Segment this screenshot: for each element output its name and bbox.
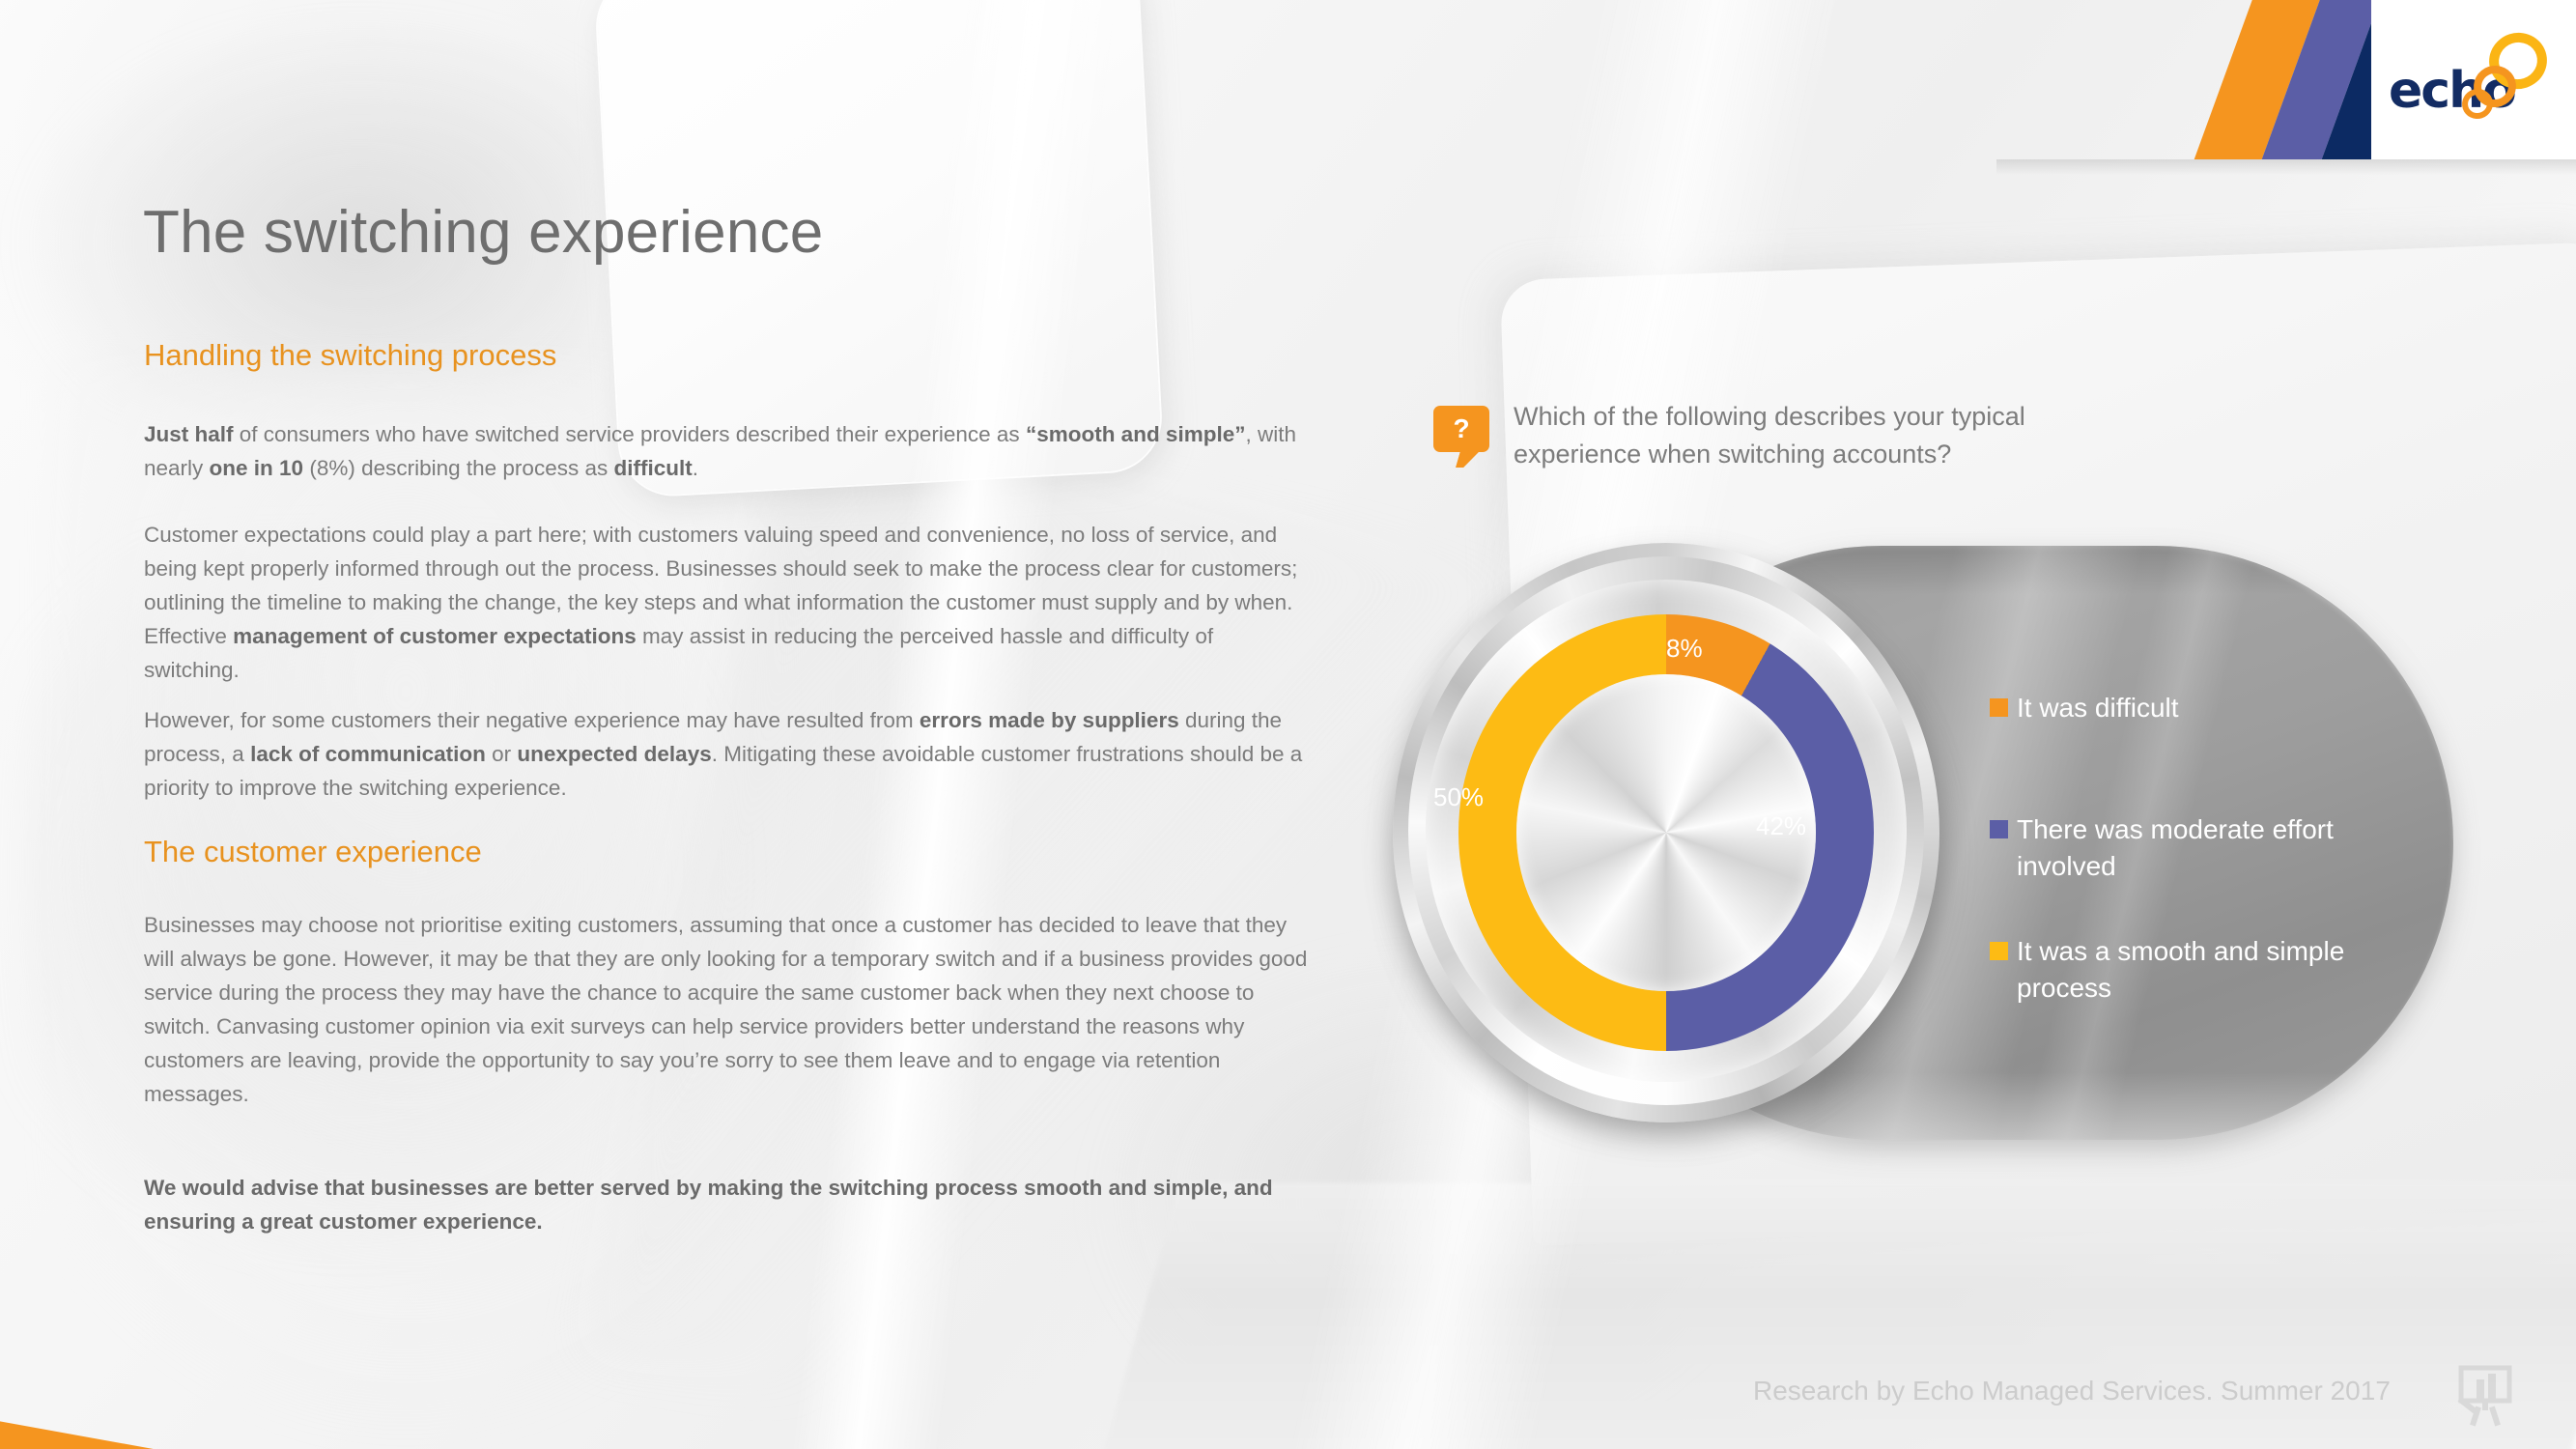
- echo-logo: echo: [2389, 41, 2543, 128]
- footer-stripe-purple: [0, 1378, 869, 1449]
- section-heading-customer-experience: The customer experience: [144, 835, 482, 869]
- p1-bold-one-in-ten: one in 10: [210, 456, 304, 480]
- paragraph-1: Just half of consumers who have switched…: [144, 417, 1315, 485]
- header-corner-stripes: echo: [1996, 0, 2576, 159]
- donut-value-label-moderate-effort: 42%: [1756, 811, 1806, 841]
- legend-label-moderate-effort: There was moderate effort involved: [2017, 811, 2355, 885]
- p1-bold-difficult: difficult: [613, 456, 692, 480]
- question-mark-icon: ?: [1433, 406, 1489, 452]
- p1-bold-smooth-simple: “smooth and simple”: [1026, 422, 1246, 446]
- legend-label-smooth-simple: It was a smooth and simple process: [2017, 933, 2355, 1007]
- p3-text-a: However, for some customers their negati…: [144, 708, 920, 732]
- legend-label-difficult: It was difficult: [2017, 690, 2355, 726]
- p1-bold-just-half: Just half: [144, 422, 234, 446]
- paragraph-2: Customer expectations could play a part …: [144, 518, 1315, 687]
- p3-bold-unexpected-delays: unexpected delays: [517, 742, 711, 766]
- footer-stripe-orange: [0, 1301, 869, 1449]
- page-title: The switching experience: [143, 198, 823, 267]
- section-heading-handling-switching-process: Handling the switching process: [144, 338, 556, 373]
- paragraph-4: Businesses may choose not prioritise exi…: [144, 908, 1315, 1111]
- flipchart-bar-icon: [2455, 1364, 2515, 1428]
- legend-swatch-difficult: [1990, 698, 2008, 717]
- slide-canvas: echo The switching experience Handling t…: [0, 0, 2576, 1449]
- footer-corner-stripes: [0, 1207, 869, 1449]
- question-text: Which of the following describes your ty…: [1514, 398, 2064, 473]
- donut-value-label-smooth-simple: 50%: [1433, 782, 1484, 812]
- background-laptop-keyboard: [1099, 1183, 2576, 1449]
- p1-text-d: .: [693, 456, 698, 480]
- paragraph-3: However, for some customers their negati…: [144, 703, 1315, 805]
- p3-bold-lack-communication: lack of communication: [250, 742, 486, 766]
- p3-bold-errors-suppliers: errors made by suppliers: [920, 708, 1179, 732]
- legend-swatch-moderate-effort: [1990, 820, 2008, 838]
- p2-bold-management-expectations: management of customer expectations: [233, 624, 637, 648]
- donut-chart[interactable]: 8% 42% 50%: [1393, 533, 1963, 1150]
- p1-text-c: (8%) describing the process as: [303, 456, 613, 480]
- header-shadow: [1996, 159, 2576, 175]
- p1-text-a: of consumers who have switched service p…: [234, 422, 1026, 446]
- p3-text-c: or: [486, 742, 518, 766]
- donut-value-label-difficult: 8%: [1666, 634, 1703, 664]
- legend-swatch-smooth-simple: [1990, 942, 2008, 960]
- footer-attribution: Research by Echo Managed Services. Summe…: [1753, 1376, 2391, 1406]
